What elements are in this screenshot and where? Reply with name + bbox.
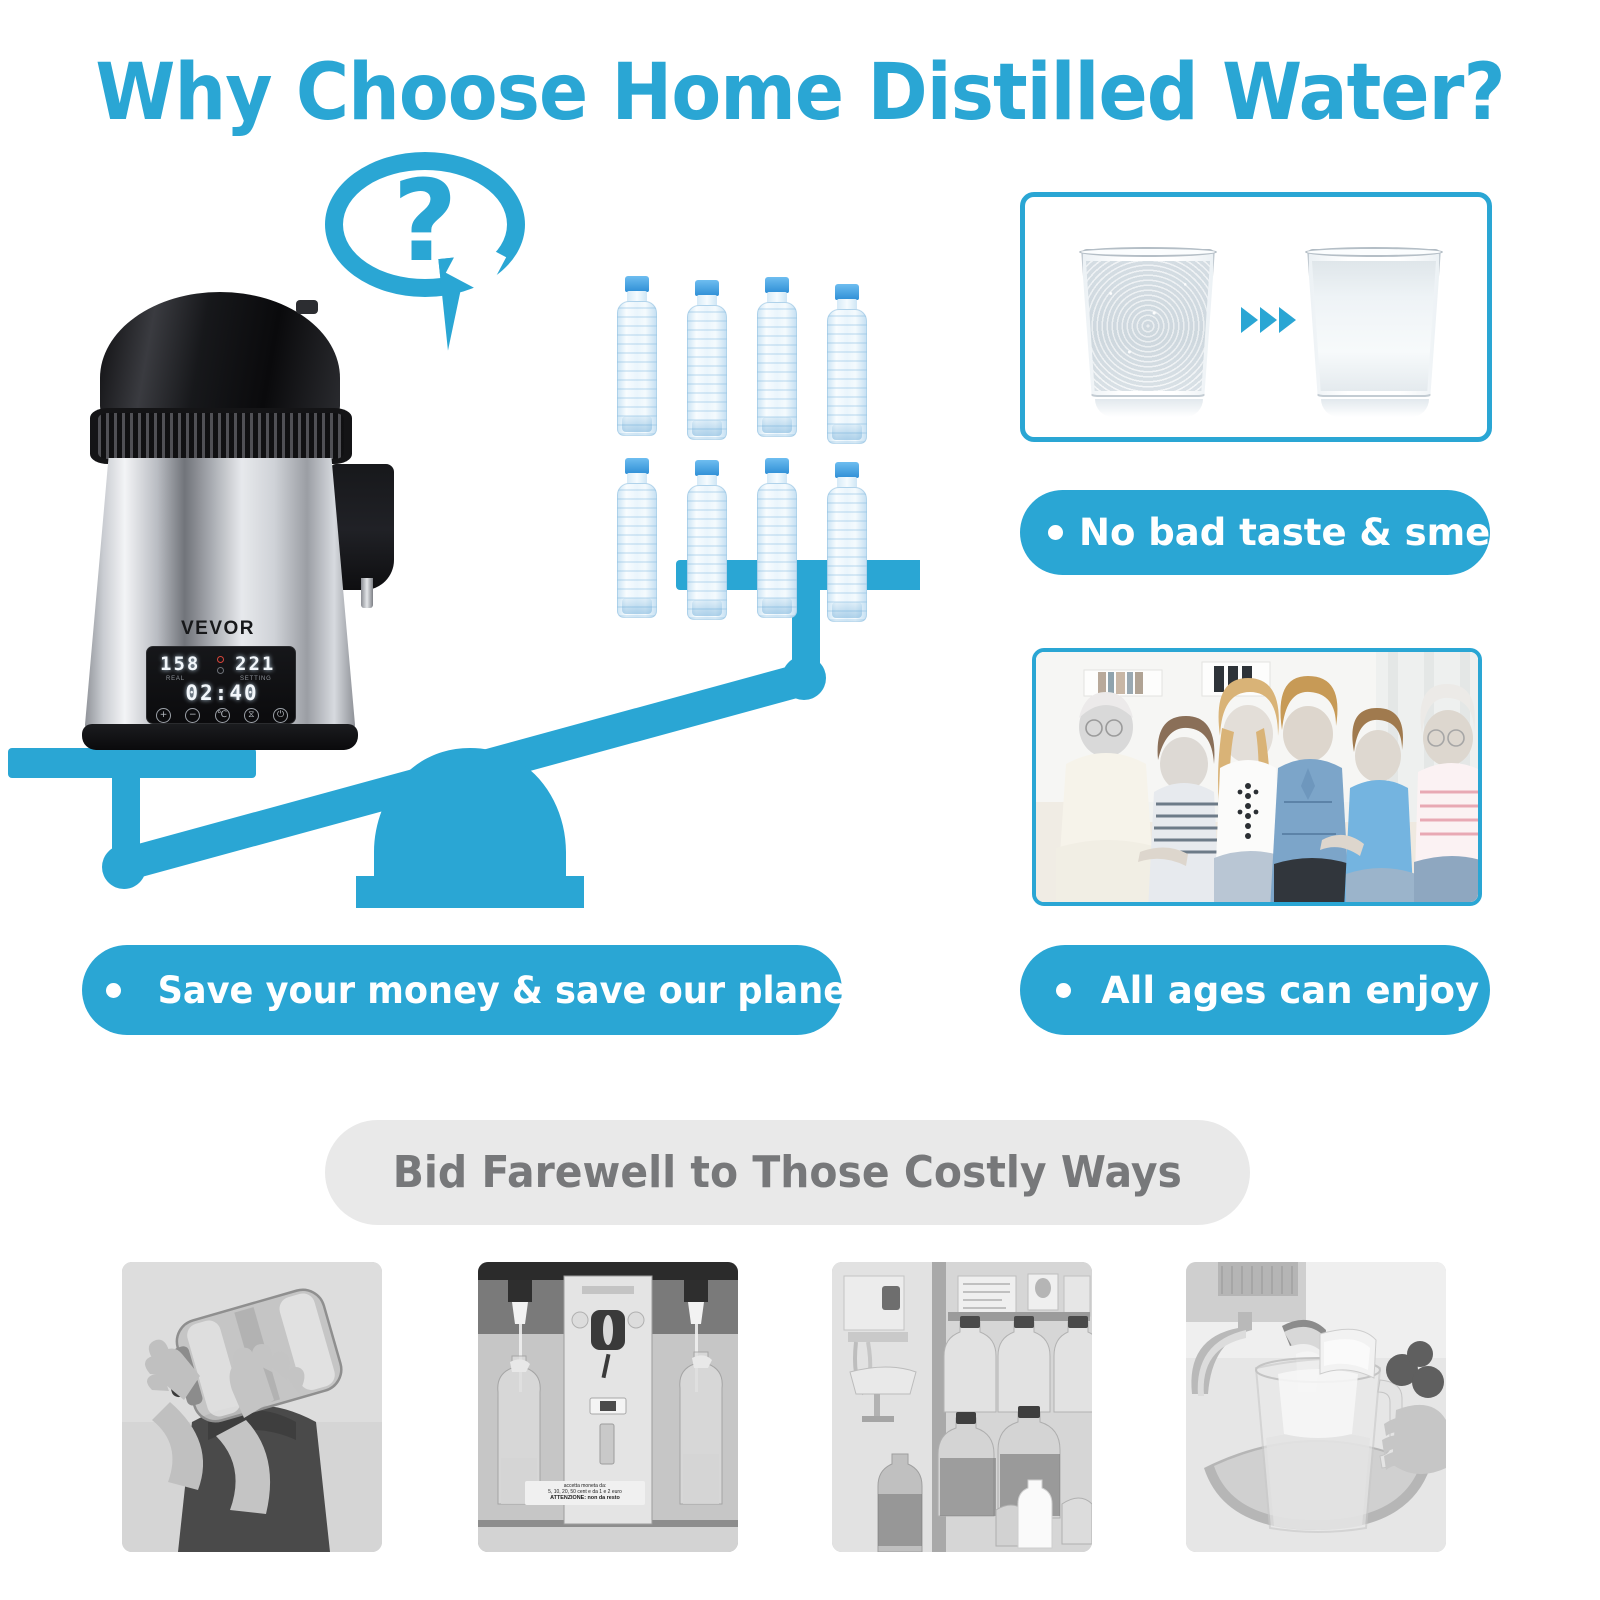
family-photo-panel [1032,648,1482,906]
photo-water-refill-shop [832,1262,1092,1552]
section-banner: Bid Farewell to Those Costly Ways [325,1120,1250,1225]
distiller-vent-collar [90,408,352,464]
bottle-body [687,485,727,620]
water-bottle [822,284,872,444]
water-distiller-appliance: VEVOR 158 REAL 221 SETTING 02:40 + − ℃ ⧖… [78,292,398,762]
bottle-body [617,301,657,436]
photo-water-vending-machine: accetta moneta da: 5, 10, 20, 50 cent e … [478,1262,738,1552]
bottle-body [687,305,727,440]
water-bottle [612,276,662,436]
refill-shop-illustration [832,1262,1092,1552]
seesaw-fulcrum [356,748,584,908]
minus-button[interactable]: − [185,708,200,723]
setting-temperature-value: 221 [235,653,275,675]
glass-reflection [1321,399,1429,417]
distiller-lid-knob [296,300,318,314]
filter-pitcher-illustration [1186,1262,1446,1552]
temperature-button[interactable]: ℃ [215,708,230,723]
benefit-pill-taste-label: No bad taste & smell [1079,511,1516,554]
water-bottle [682,460,732,620]
bottle-cap [625,458,649,474]
bullet-icon [1056,983,1071,998]
triple-chevron-right-icon [1241,307,1296,333]
bullet-icon [1048,525,1063,540]
distiller-base [82,724,358,750]
bottle-cap [695,460,719,476]
question-mark-glyph: ? [325,158,525,286]
chevron-3 [1279,307,1296,333]
bottle-body [617,483,657,618]
vending-machine-illustration [478,1262,738,1552]
bottle-body [827,309,867,444]
water-comparison-panel [1020,192,1492,442]
plus-button[interactable]: + [156,708,171,723]
standby-indicator-icon [217,667,224,674]
bottle-body [757,483,797,618]
photo-man-carrying-jug [122,1262,382,1552]
distiller-spout-tip [361,578,373,608]
seesaw-left-post [112,772,140,872]
glass-reflection [1095,399,1203,417]
benefit-pill-ages: All ages can enjoy [1020,945,1490,1035]
clear-water-glass [1299,239,1449,404]
page-title: Why Choose Home Distilled Water? [56,48,1544,138]
control-button-row: + − ℃ ⧖ ⏻ [156,707,288,723]
photo-filter-pitcher-at-tap [1186,1262,1446,1552]
heating-indicator-icon [217,656,224,663]
benefit-pill-ages-label: All ages can enjoy [1101,969,1479,1012]
water-bottle [822,462,872,622]
bottle-cap [835,462,859,478]
glass-rim [1305,247,1443,257]
cloudy-water-glass [1073,239,1223,404]
timer-button[interactable]: ⧖ [244,708,259,723]
water-bottle [612,458,662,618]
family-photo-illustration [1036,652,1482,906]
benefit-pill-save-label: Save your money & save our planet [158,969,864,1012]
infographic-page: Why Choose Home Distilled Water? ? [0,0,1600,1600]
bottle-body [827,487,867,622]
real-temperature-value: 158 [160,653,200,675]
glass-rim [1079,247,1217,257]
benefit-pill-save: Save your money & save our planet [82,945,842,1035]
bottle-cap [765,458,789,474]
control-panel[interactable]: 158 REAL 221 SETTING 02:40 + − ℃ ⧖ ⏻ [146,646,296,724]
brand-logo: VEVOR [78,618,358,640]
section-banner-label: Bid Farewell to Those Costly Ways [393,1147,1182,1198]
water-bottle [752,458,802,618]
chevron-2 [1260,307,1277,333]
bullet-icon [106,983,121,998]
plastic-water-bottles-group [604,276,884,632]
cloudy-water-fill [1086,261,1210,391]
water-bottle [752,277,802,437]
question-speech-bubble-icon: ? [325,152,525,297]
vend-label-line-3: ATTENZIONE: non da resto [527,1495,643,1502]
man-carrying-jug-illustration [122,1262,382,1552]
chevron-1 [1241,307,1258,333]
benefit-pill-taste: No bad taste & smell [1020,490,1490,575]
water-bottle [682,280,732,440]
bottle-cap [765,277,789,293]
power-button[interactable]: ⏻ [273,708,288,723]
timer-readout: 02:40 [147,681,297,705]
clear-water-fill [1312,261,1436,391]
bottle-cap [625,276,649,292]
bottle-cap [695,280,719,296]
bottle-body [757,302,797,437]
distiller-lid [100,292,340,420]
vending-machine-label: accetta moneta da: 5, 10, 20, 50 cent e … [525,1481,645,1505]
temperature-readout-row: 158 REAL 221 SETTING [147,653,297,683]
bottle-cap [835,284,859,300]
